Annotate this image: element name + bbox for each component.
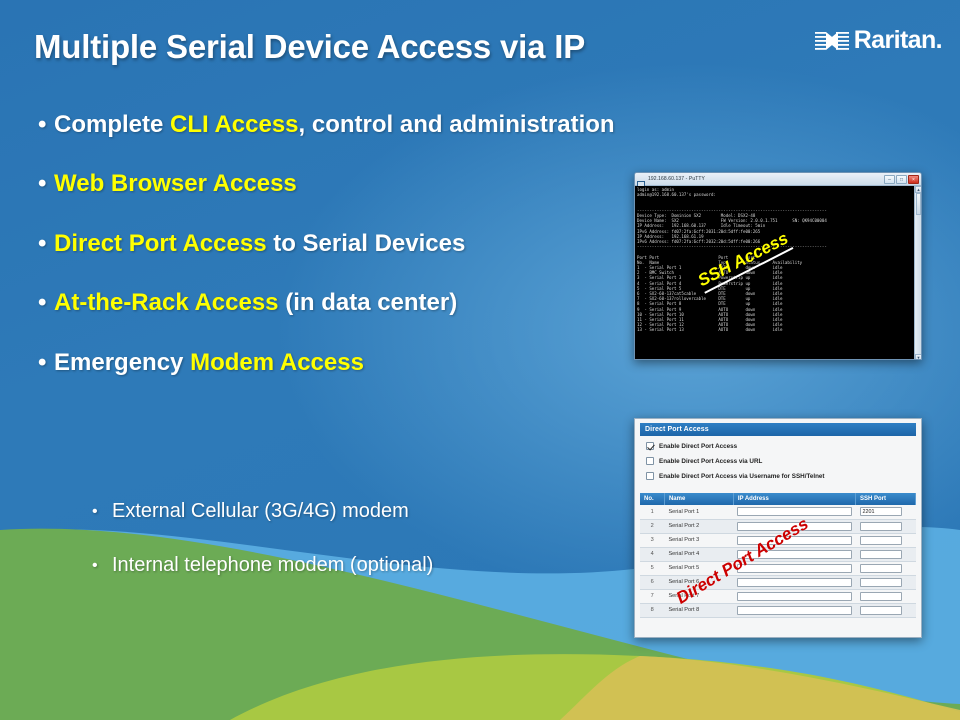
bullet-post: (in data center) [279,289,458,316]
checkbox-icon[interactable] [646,457,654,465]
direct-port-access-window: Direct Port Access Enable Direct Port Ac… [634,418,922,638]
bullet-post: to Serial Devices [267,230,466,257]
table-row: 8 Serial Port 8 [640,603,916,617]
dpa-checkbox-row-3[interactable]: Enable Direct Port Access via Username f… [646,472,912,480]
minimize-button[interactable]: – [884,175,895,184]
bullet-post: , control and administration [299,111,615,138]
bullet-item-4: • At-the-Rack Access (in data center) [38,290,638,316]
cell-no: 2 [640,519,664,533]
cell-name: Serial Port 6 [664,575,733,589]
column-header-ssh: SSH Port [856,493,916,505]
ssh-port-input[interactable] [860,536,902,545]
bullet-item-1: • Complete CLI Access, control and admin… [38,112,638,138]
scroll-up-icon[interactable]: ▲ [915,186,921,193]
sub-bullet-marker: • [92,500,112,521]
putty-terminal-window: 192.168.60.137 - PuTTY – □ × login as: a… [634,172,922,360]
dpa-checkbox-row-2[interactable]: Enable Direct Port Access via URL [646,457,912,465]
cell-name: Serial Port 4 [664,547,733,561]
bullet-item-2: • Web Browser Access [38,171,638,197]
checkbox-icon[interactable] [646,442,654,450]
putty-title-bar: 192.168.60.137 - PuTTY – □ × [635,173,921,186]
column-header-name: Name [664,493,733,505]
table-row: 2 Serial Port 2 [640,519,916,533]
bullet-item-3: • Direct Port Access to Serial Devices [38,231,638,257]
bullet-text: Emergency Modem Access [54,350,638,376]
column-header-ip: IP Address [733,493,855,505]
cell-no: 3 [640,533,664,547]
ssh-port-input[interactable] [860,592,902,601]
cell-ssh [856,575,916,589]
ip-address-input[interactable] [737,564,851,573]
bullet-marker: • [38,290,54,316]
cell-ssh [856,603,916,617]
table-row: 7 Serial Port 7 [640,589,916,603]
table-row: 5 Serial Port 5 [640,561,916,575]
bullet-text: Complete CLI Access, control and adminis… [54,112,638,138]
cell-ip [733,533,855,547]
dpa-checkbox-group: Enable Direct Port Access Enable Direct … [640,436,916,491]
maximize-button[interactable]: □ [896,175,907,184]
cell-name: Serial Port 8 [664,603,733,617]
cell-ssh [856,519,916,533]
cell-ssh [856,561,916,575]
bullet-marker: • [38,112,54,138]
bullet-pre: Complete [54,111,170,138]
sub-bullet-text: External Cellular (3G/4G) modem [112,500,409,522]
cell-no: 6 [640,575,664,589]
sub-bullet-marker: • [92,554,112,575]
raritan-bowtie-icon [815,30,849,52]
bullet-text: Web Browser Access [54,171,638,197]
ip-address-input[interactable] [737,592,851,601]
raritan-logo: Raritan. [815,28,942,53]
checkbox-icon[interactable] [646,472,654,480]
terminal-scrollbar[interactable]: ▲ ▼ [914,186,921,360]
bullet-marker: • [38,171,54,197]
page-title: Multiple Serial Device Access via IP [34,28,585,66]
ip-address-input[interactable] [737,550,851,559]
brand-name: Raritan. [854,28,942,53]
bullet-highlight: At-the-Rack Access [54,289,279,316]
table-row: 4 Serial Port 4 [640,547,916,561]
ssh-port-input[interactable] [860,606,902,615]
bullet-pre: Emergency [54,349,190,376]
cell-ip [733,603,855,617]
cell-no: 8 [640,603,664,617]
cell-ip [733,519,855,533]
ssh-port-input[interactable] [860,522,902,531]
cell-ip [733,561,855,575]
sub-bullet-item-1: • External Cellular (3G/4G) modem [92,500,652,522]
cell-ssh: 2201 [856,505,916,519]
bullet-highlight: Direct Port Access [54,230,267,257]
putty-terminal-body[interactable]: login as: admin admin@192.168.60.137's p… [635,186,921,360]
cell-name: Serial Port 3 [664,533,733,547]
sub-bullet-item-2: • Internal telephone modem (optional) [92,554,652,576]
bullet-highlight: Web Browser Access [54,170,297,197]
table-row: 1 Serial Port 1 2201 [640,505,916,519]
cell-name: Serial Port 7 [664,589,733,603]
ssh-port-input[interactable]: 2201 [860,507,902,516]
putty-window-controls: – □ × [884,175,919,184]
scrollbar-thumb[interactable] [916,193,921,215]
ip-address-input[interactable] [737,578,851,587]
close-icon[interactable]: × [908,175,919,184]
bullet-item-5: • Emergency Modem Access [38,350,638,376]
cell-no: 4 [640,547,664,561]
putty-window-title: 192.168.60.137 - PuTTY [648,176,884,182]
ip-address-input[interactable] [737,522,851,531]
ip-address-input[interactable] [737,507,851,516]
ssh-port-input[interactable] [860,578,902,587]
cell-ip [733,547,855,561]
scroll-down-icon[interactable]: ▼ [915,354,921,360]
table-row: 3 Serial Port 3 [640,533,916,547]
ssh-port-input[interactable] [860,550,902,559]
ip-address-input[interactable] [737,606,851,615]
bullet-text: At-the-Rack Access (in data center) [54,290,638,316]
bullet-list: • Complete CLI Access, control and admin… [38,112,638,409]
checkbox-label: Enable Direct Port Access via URL [659,458,762,465]
table-header-row: No. Name IP Address SSH Port [640,493,916,505]
cell-no: 7 [640,589,664,603]
cell-ssh [856,533,916,547]
cell-ssh [856,589,916,603]
cell-no: 1 [640,505,664,519]
column-header-no: No. [640,493,664,505]
checkbox-label: Enable Direct Port Access via Username f… [659,473,825,480]
cell-ip [733,589,855,603]
cell-ssh [856,547,916,561]
ssh-port-input[interactable] [860,564,902,573]
bullet-text: Direct Port Access to Serial Devices [54,231,638,257]
cell-name: Serial Port 5 [664,561,733,575]
ip-address-input[interactable] [737,536,851,545]
bullet-marker: • [38,350,54,376]
bullet-highlight: Modem Access [190,349,364,376]
dpa-checkbox-row-1[interactable]: Enable Direct Port Access [646,442,912,450]
terminal-output: login as: admin admin@192.168.60.137's p… [637,187,919,333]
cell-ip [733,575,855,589]
bullet-highlight: CLI Access [170,111,299,138]
cell-name: Serial Port 1 [664,505,733,519]
sub-bullet-text: Internal telephone modem (optional) [112,554,433,576]
putty-app-icon [637,175,645,183]
cell-name: Serial Port 2 [664,519,733,533]
checkbox-label: Enable Direct Port Access [659,443,737,450]
dpa-section-header: Direct Port Access [640,423,916,436]
table-row: 6 Serial Port 6 [640,575,916,589]
cell-no: 5 [640,561,664,575]
dpa-ports-table: No. Name IP Address SSH Port 1 Serial Po… [640,493,916,618]
sub-bullet-list: • External Cellular (3G/4G) modem • Inte… [92,500,652,608]
cell-ip [733,505,855,519]
bullet-marker: • [38,231,54,257]
